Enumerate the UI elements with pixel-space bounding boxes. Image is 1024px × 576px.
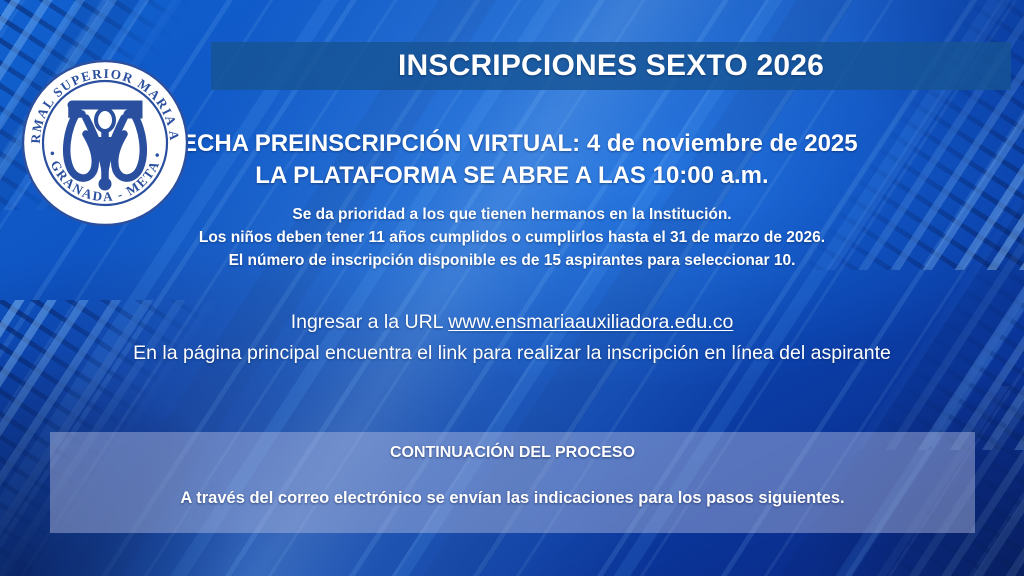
continuation-panel-body: A través del correo electrónico se envía… <box>50 489 975 508</box>
website-url-link[interactable]: www.ensmariaauxiliadora.edu.co <box>448 311 733 333</box>
poster-title-bar: INSCRIPCIONES SEXTO 2026 <box>211 42 1011 90</box>
note-line-3: El número de inscripción disponible es d… <box>0 249 1024 272</box>
continuation-panel-heading: CONTINUACIÓN DEL PROCESO <box>50 444 975 462</box>
poster-canvas: ESCUELA NORMAL SUPERIOR MARIA AUXILIADOR… <box>0 0 1024 576</box>
headline-line-1: FECHA PREINSCRIPCIÓN VIRTUAL: 4 de novie… <box>166 130 857 157</box>
url-block: Ingresar a la URL www.ensmariaauxiliador… <box>0 307 1024 369</box>
school-seal-logo: ESCUELA NORMAL SUPERIOR MARIA AUXILIADOR… <box>20 58 190 228</box>
url-line: Ingresar a la URL www.ensmariaauxiliador… <box>0 307 1024 338</box>
poster-title-text: INSCRIPCIONES SEXTO 2026 <box>398 49 824 83</box>
url-prefix-text: Ingresar a la URL <box>291 311 449 333</box>
continuation-panel: CONTINUACIÓN DEL PROCESO A través del co… <box>50 432 975 533</box>
url-instruction-text: En la página principal encuentra el link… <box>0 338 1024 369</box>
note-line-2: Los niños deben tener 11 años cumplidos … <box>0 226 1024 249</box>
